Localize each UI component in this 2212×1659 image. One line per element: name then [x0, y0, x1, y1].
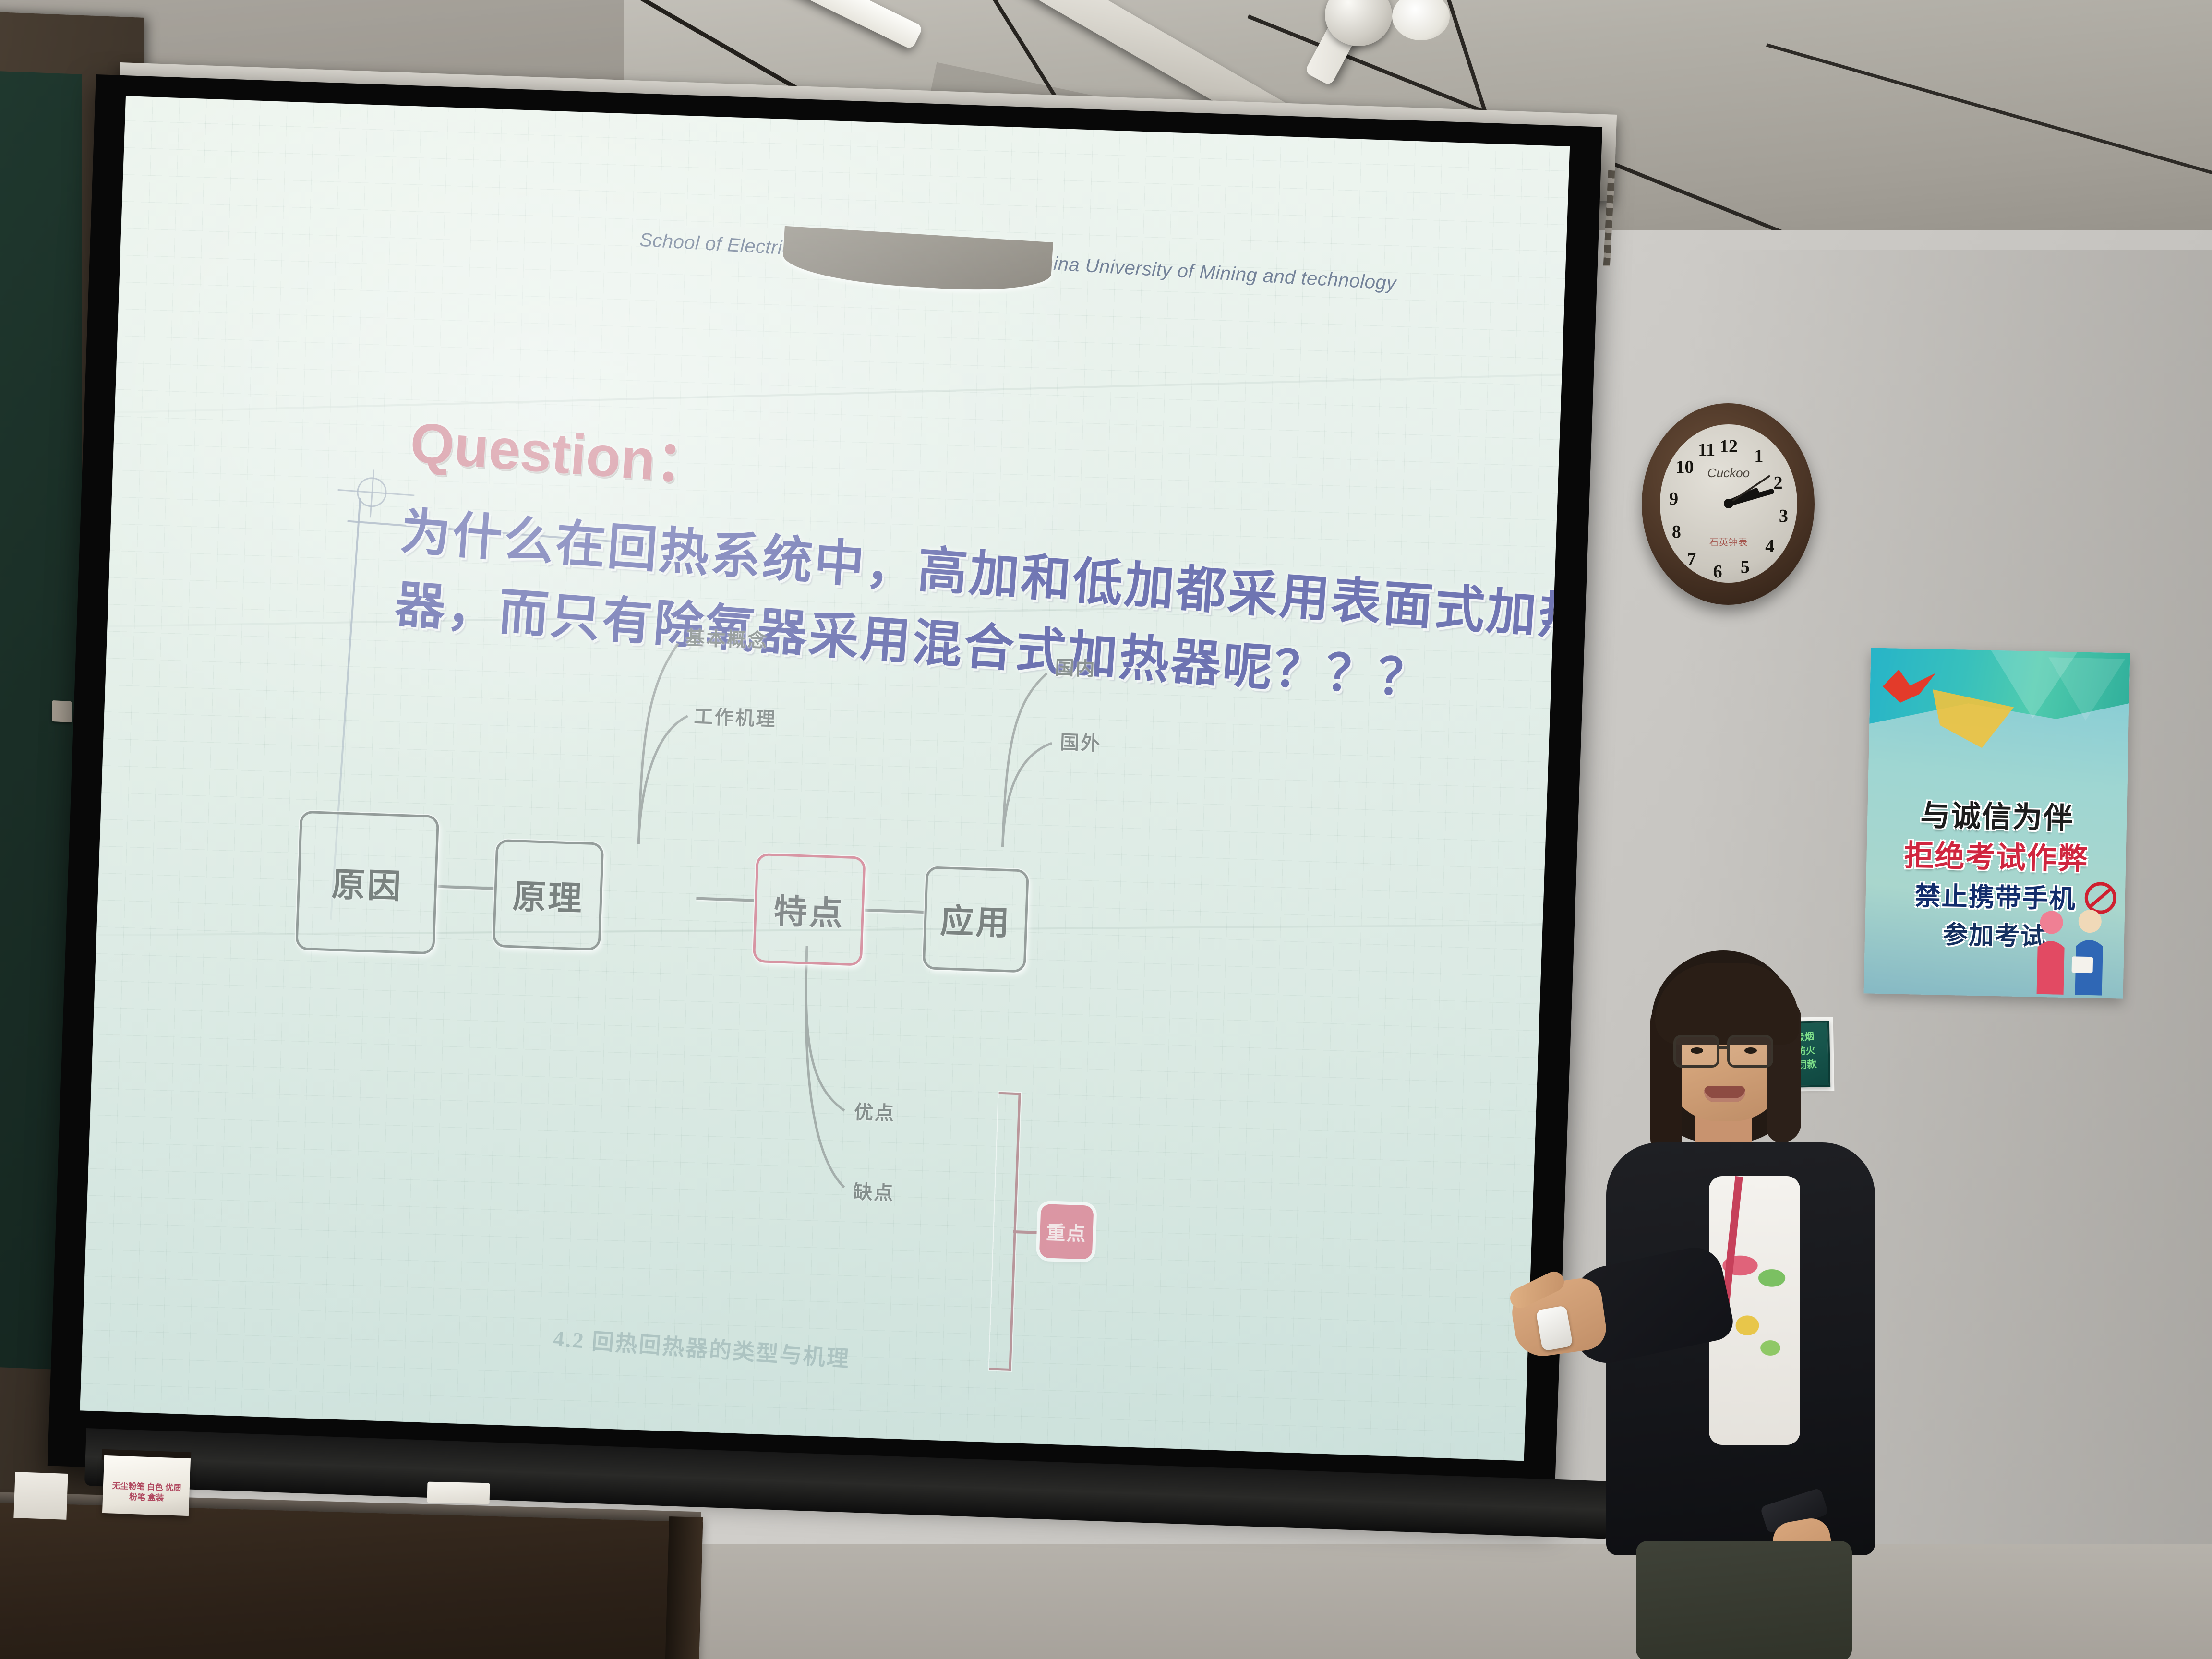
connector-cause-principle: [437, 885, 494, 890]
key-bracket-nub: [1013, 1230, 1037, 1234]
branch-label-disadvantages: 缺点: [853, 1176, 895, 1205]
clock-numeral-6: 6: [1713, 561, 1722, 582]
clock-numeral-10: 10: [1675, 457, 1694, 478]
glasses-bridge: [1719, 1046, 1729, 1049]
clock-numeral-3: 3: [1779, 505, 1788, 527]
chalk-box: 无尘粉笔 白色 优质粉笔 盒装: [102, 1455, 191, 1516]
diagram-node-application[interactable]: 应用: [923, 866, 1029, 973]
poster-student-figures: [2025, 902, 2118, 996]
presenter-eye-left: [1691, 1047, 1703, 1054]
clock-face: Cuckoo 石英钟表 12 1 2 3 4 5 6 7 8 9 10 11: [1660, 424, 1797, 583]
branch-label-advantages: 优点: [854, 1096, 896, 1126]
clock-numeral-1: 1: [1754, 445, 1763, 467]
clock-numeral-11: 11: [1698, 439, 1715, 460]
podium-side-panel: [665, 1516, 703, 1659]
paper-scrap: [427, 1482, 490, 1504]
clock-numeral-4: 4: [1765, 536, 1774, 557]
fluorescent-light: [671, 0, 924, 50]
presenter-eye-right: [1744, 1047, 1757, 1054]
classroom-scene: Redleaf School of Electrical and Power E…: [0, 0, 2212, 1659]
poster-line-2: 拒绝考试作弊: [1866, 830, 2127, 878]
chalk-box-label: 无尘粉笔 白色 优质粉笔 盒装: [110, 1480, 183, 1504]
smoke-detector-icon: [1392, 0, 1450, 40]
projection-screen-surface: School of Electrical and Power Engineeri…: [80, 96, 1570, 1461]
branch-label-working-mechanism: 工作机理: [694, 701, 777, 732]
branch-label-domestic: 国内: [1055, 652, 1097, 681]
presenter-trousers: [1636, 1541, 1852, 1659]
diagram-node-principle[interactable]: 原理: [493, 839, 604, 951]
podium: [0, 1502, 703, 1659]
diagram-node-features[interactable]: 特点: [753, 853, 866, 966]
clock-numeral-5: 5: [1741, 556, 1750, 577]
wall-clock: Cuckoo 石英钟表 12 1 2 3 4 5 6 7 8 9 10 11: [1642, 403, 1815, 605]
diagram-node-cause[interactable]: 原因: [295, 811, 439, 955]
key-point-badge: 重点: [1039, 1204, 1094, 1260]
presenter: [1575, 950, 1939, 1659]
clock-numeral-2: 2: [1773, 472, 1782, 493]
clock-numeral-9: 9: [1669, 488, 1678, 509]
clock-brand-label: Cuckoo: [1707, 466, 1750, 481]
clock-center-pin: [1724, 499, 1733, 508]
branch-label-overseas: 国外: [1059, 727, 1102, 756]
clock-sub-label: 石英钟表: [1709, 535, 1748, 548]
presenter-mouth: [1704, 1086, 1745, 1102]
clock-numeral-12: 12: [1719, 436, 1738, 457]
slide-diagram: 基本概念 工作机理 国内 国外 优点 缺点 原因 原理 特点 应用 重点: [80, 96, 1570, 1461]
clock-numeral-8: 8: [1672, 521, 1681, 542]
clock-numeral-7: 7: [1687, 549, 1696, 570]
exam-integrity-poster: 与诚信为伴 拒绝考试作弊 禁止携带手机 参加考试: [1864, 648, 2130, 998]
diagram-connector-curves: [80, 96, 1570, 1461]
connector-principle-features: [696, 897, 754, 902]
branch-label-basic-concept: 基本概念: [685, 622, 769, 653]
chalkboard-clip: [52, 700, 72, 722]
paper-on-ledge: [13, 1472, 68, 1520]
connector-features-application: [865, 909, 925, 914]
